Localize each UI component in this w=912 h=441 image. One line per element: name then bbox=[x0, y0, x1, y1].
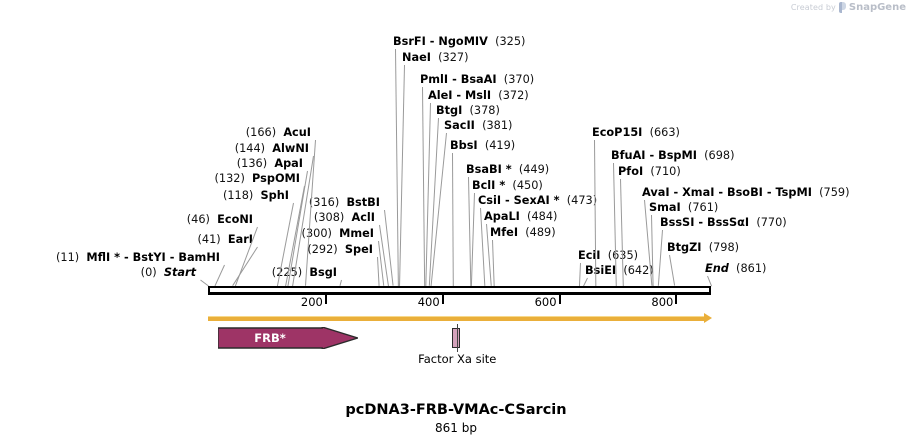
enzyme-position: (663) bbox=[650, 126, 680, 139]
leader-line-bsssi bbox=[658, 230, 663, 286]
enzyme-label-ecii[interactable]: EciI (635) bbox=[578, 250, 638, 262]
enzyme-position: (372) bbox=[498, 89, 528, 102]
ruler-tick bbox=[675, 295, 677, 304]
leader-line-ecii bbox=[579, 263, 581, 286]
enzyme-name: BbsI bbox=[450, 139, 478, 152]
leader-line-bbsi bbox=[452, 153, 454, 286]
enzyme-name: BsaBI * bbox=[466, 163, 512, 176]
enzyme-label-mfli[interactable]: (11) MflI * - BstYI - BamHI bbox=[56, 252, 220, 264]
feature-factor-xa-label: Factor Xa site bbox=[418, 352, 496, 366]
leader-line-bsrfi bbox=[395, 49, 399, 286]
enzyme-name: SacII bbox=[444, 119, 475, 132]
ruler-tick-label: 400 bbox=[418, 295, 440, 309]
leader-line-end bbox=[707, 276, 712, 286]
enzyme-name: SpeI bbox=[345, 243, 373, 256]
enzyme-position: (300) bbox=[302, 227, 332, 240]
enzyme-position: (327) bbox=[438, 51, 468, 64]
enzyme-name: BtgI bbox=[436, 104, 462, 117]
enzyme-name: BsaAI bbox=[461, 73, 497, 86]
enzyme-position: (381) bbox=[482, 119, 512, 132]
enzyme-position: (473) bbox=[567, 194, 597, 207]
leader-line-btgzi bbox=[669, 255, 675, 286]
enzyme-position: (861) bbox=[736, 262, 766, 275]
enzyme-position: (292) bbox=[307, 243, 337, 256]
enzyme-label-naei[interactable]: NaeI (327) bbox=[402, 52, 469, 64]
enzyme-position: (489) bbox=[525, 226, 555, 239]
enzyme-name: PmlI bbox=[420, 73, 448, 86]
enzyme-name: Start bbox=[164, 266, 196, 279]
enzyme-position: (759) bbox=[819, 186, 849, 199]
enzyme-name: AlwNI bbox=[272, 142, 309, 155]
enzyme-position: (46) bbox=[187, 213, 210, 226]
leader-line-naei bbox=[399, 65, 405, 286]
enzyme-name: AleI bbox=[428, 89, 452, 102]
enzyme-label-ecop15i[interactable]: EcoP15I (663) bbox=[592, 127, 680, 139]
enzyme-label-spei[interactable]: (292) SpeI bbox=[307, 244, 373, 256]
enzyme-label-csii[interactable]: CsiI - SexAI * (473) bbox=[478, 195, 597, 207]
enzyme-label-mfei[interactable]: MfeI (489) bbox=[490, 227, 556, 239]
leader-line-bsiei bbox=[583, 278, 588, 286]
feature-factor-xa-site[interactable] bbox=[452, 328, 460, 348]
enzyme-position: (11) bbox=[56, 251, 79, 264]
backbone-line-top bbox=[208, 286, 711, 288]
enzyme-name: NaeI bbox=[402, 51, 431, 64]
leader-line-pmli bbox=[422, 87, 425, 286]
enzyme-label-acui[interactable]: (166) AcuI bbox=[246, 127, 311, 139]
enzyme-label-sphi[interactable]: (118) SphI bbox=[223, 190, 289, 202]
enzyme-label-econi[interactable]: (46) EcoNI bbox=[187, 214, 253, 226]
enzyme-label-bstbi[interactable]: (316) BstBI bbox=[309, 197, 380, 209]
enzyme-name: EciI bbox=[578, 249, 601, 262]
plasmid-map-canvas: Created by SnapGene (0) Start(11) MflI *… bbox=[0, 0, 912, 441]
enzyme-label-bcli[interactable]: BclI * (450) bbox=[472, 180, 543, 192]
enzyme-name: BsiEI bbox=[585, 264, 616, 277]
backbone-cap-right bbox=[709, 286, 711, 295]
enzyme-position: (370) bbox=[504, 73, 534, 86]
enzyme-position: (0) bbox=[141, 266, 157, 279]
enzyme-label-sacii[interactable]: SacII (381) bbox=[444, 120, 512, 132]
enzyme-name: ApaI bbox=[274, 157, 303, 170]
enzyme-name: BamHI bbox=[178, 251, 220, 264]
enzyme-name: BssSαI bbox=[707, 216, 749, 229]
ruler-tick bbox=[559, 295, 561, 304]
enzyme-label-mmei[interactable]: (300) MmeI bbox=[302, 228, 374, 240]
snapgene-logo-icon bbox=[839, 2, 846, 13]
enzyme-position: (316) bbox=[309, 196, 339, 209]
enzyme-position: (770) bbox=[756, 216, 786, 229]
enzyme-position: (798) bbox=[709, 241, 739, 254]
enzyme-name: SmaI bbox=[649, 201, 681, 214]
ruler-tick-label: 200 bbox=[301, 295, 323, 309]
page-subtitle: 861 bp bbox=[0, 421, 912, 435]
enzyme-label-btgzi[interactable]: BtgZI (798) bbox=[667, 242, 739, 254]
feature-factor-xa-leader bbox=[457, 324, 458, 352]
span-arrow-bar bbox=[208, 316, 704, 321]
enzyme-position: (308) bbox=[314, 211, 344, 224]
enzyme-position: (132) bbox=[214, 172, 244, 185]
enzyme-name: AcuI bbox=[283, 126, 311, 139]
enzyme-label-eari[interactable]: (41) EarI bbox=[197, 234, 253, 246]
enzyme-name: BspMI bbox=[658, 149, 697, 162]
leader-line-ecop15i bbox=[594, 140, 596, 286]
enzyme-label-bsssi[interactable]: BssSI - BssSαI (770) bbox=[660, 217, 787, 229]
enzyme-position: (144) bbox=[235, 142, 265, 155]
enzyme-name: BsrFI bbox=[393, 35, 426, 48]
enzyme-position: (710) bbox=[650, 165, 680, 178]
enzyme-label-pmli[interactable]: PmlI - BsaAI (370) bbox=[420, 74, 534, 86]
backbone-cap-left bbox=[208, 286, 210, 295]
ruler-tick-label: 600 bbox=[535, 295, 557, 309]
enzyme-name: SphI bbox=[261, 189, 289, 202]
enzyme-name: MslI bbox=[465, 89, 491, 102]
enzyme-position: (449) bbox=[519, 163, 549, 176]
enzyme-name: MmeI bbox=[339, 227, 374, 240]
enzyme-position: (166) bbox=[246, 126, 276, 139]
enzyme-name: MfeI bbox=[490, 226, 518, 239]
enzyme-label-start[interactable]: (0) Start bbox=[141, 267, 196, 279]
enzyme-label-pspomi[interactable]: (132) PspOMI bbox=[214, 173, 300, 185]
enzyme-name: BclI * bbox=[472, 179, 505, 192]
enzyme-label-bsgi[interactable]: (225) BsgI bbox=[272, 267, 337, 279]
enzyme-name: AclI bbox=[351, 211, 375, 224]
enzyme-name: EcoNI bbox=[217, 213, 253, 226]
enzyme-label-alwni[interactable]: (144) AlwNI bbox=[235, 143, 309, 155]
ruler-tick-label: 800 bbox=[651, 295, 673, 309]
enzyme-name: BsoBI bbox=[727, 186, 763, 199]
enzyme-name: BstYI bbox=[133, 251, 166, 264]
enzyme-position: (136) bbox=[237, 157, 267, 170]
enzyme-name: BssSI bbox=[660, 216, 694, 229]
enzyme-name: AvaI bbox=[642, 186, 670, 199]
enzyme-name: BstBI bbox=[346, 196, 380, 209]
leader-line-bcli bbox=[471, 193, 475, 286]
enzyme-label-bsrfi[interactable]: BsrFI - NgoMIV (325) bbox=[393, 36, 525, 48]
enzyme-position: (698) bbox=[704, 149, 734, 162]
enzyme-name: SexAI * bbox=[514, 194, 560, 207]
enzyme-name: BtgZI bbox=[667, 241, 702, 254]
enzyme-label-bbsi[interactable]: BbsI (419) bbox=[450, 140, 515, 152]
enzyme-name: NgoMIV bbox=[438, 35, 488, 48]
enzyme-position: (325) bbox=[495, 35, 525, 48]
enzyme-label-apali[interactable]: ApaLI (484) bbox=[484, 211, 557, 223]
leader-line-mfei bbox=[492, 240, 495, 286]
leader-line-mfli bbox=[214, 265, 224, 286]
enzyme-label-end[interactable]: End (861) bbox=[705, 263, 766, 275]
enzyme-label-btgi[interactable]: BtgI (378) bbox=[436, 105, 500, 117]
enzyme-label-alei[interactable]: AleI - MslI (372) bbox=[428, 90, 529, 102]
enzyme-name: ApaLI bbox=[484, 210, 520, 223]
enzyme-position: (118) bbox=[223, 189, 253, 202]
enzyme-name: XmaI bbox=[682, 186, 714, 199]
enzyme-label-apai[interactable]: (136) ApaI bbox=[237, 158, 303, 170]
watermark-brand: SnapGene bbox=[849, 2, 906, 13]
enzyme-name: End bbox=[705, 262, 729, 275]
leader-line-smai bbox=[651, 215, 654, 286]
enzyme-name: PspOMI bbox=[252, 172, 300, 185]
enzyme-position: (761) bbox=[688, 201, 718, 214]
enzyme-label-acli[interactable]: (308) AclI bbox=[314, 212, 375, 224]
span-arrow-head-icon bbox=[704, 313, 712, 323]
feature-frb[interactable]: FRB* bbox=[218, 327, 358, 349]
enzyme-name: TspMI bbox=[775, 186, 811, 199]
enzyme-position: (450) bbox=[512, 179, 542, 192]
enzyme-position: (419) bbox=[485, 139, 515, 152]
leader-line-spei bbox=[377, 257, 380, 286]
enzyme-position: (484) bbox=[527, 210, 557, 223]
enzyme-position: (378) bbox=[470, 104, 500, 117]
enzyme-name: BfuAI bbox=[611, 149, 646, 162]
ruler-tick bbox=[325, 295, 327, 304]
enzyme-name: PfoI bbox=[618, 165, 643, 178]
enzyme-label-avai[interactable]: AvaI - XmaI - BsoBI - TspMI (759) bbox=[642, 187, 850, 199]
enzyme-name: BsgI bbox=[309, 266, 337, 279]
snapgene-watermark: Created by SnapGene bbox=[791, 2, 906, 13]
watermark-prefix: Created by bbox=[791, 3, 836, 12]
backbone-line-bottom bbox=[208, 292, 711, 295]
enzyme-name: MflI * bbox=[86, 251, 120, 264]
ruler-tick bbox=[442, 295, 444, 304]
enzyme-name: CsiI bbox=[478, 194, 501, 207]
enzyme-label-bsabi[interactable]: BsaBI * (449) bbox=[466, 164, 549, 176]
page-title: pcDNA3-FRB-VMAc-CSarcin bbox=[0, 402, 912, 418]
enzyme-label-smai[interactable]: SmaI (761) bbox=[649, 202, 718, 214]
enzyme-position: (41) bbox=[197, 233, 220, 246]
enzyme-label-bfuai[interactable]: BfuAI - BspMI (698) bbox=[611, 150, 735, 162]
enzyme-label-pfoi[interactable]: PfoI (710) bbox=[618, 166, 681, 178]
enzyme-name: EcoP15I bbox=[592, 126, 642, 139]
